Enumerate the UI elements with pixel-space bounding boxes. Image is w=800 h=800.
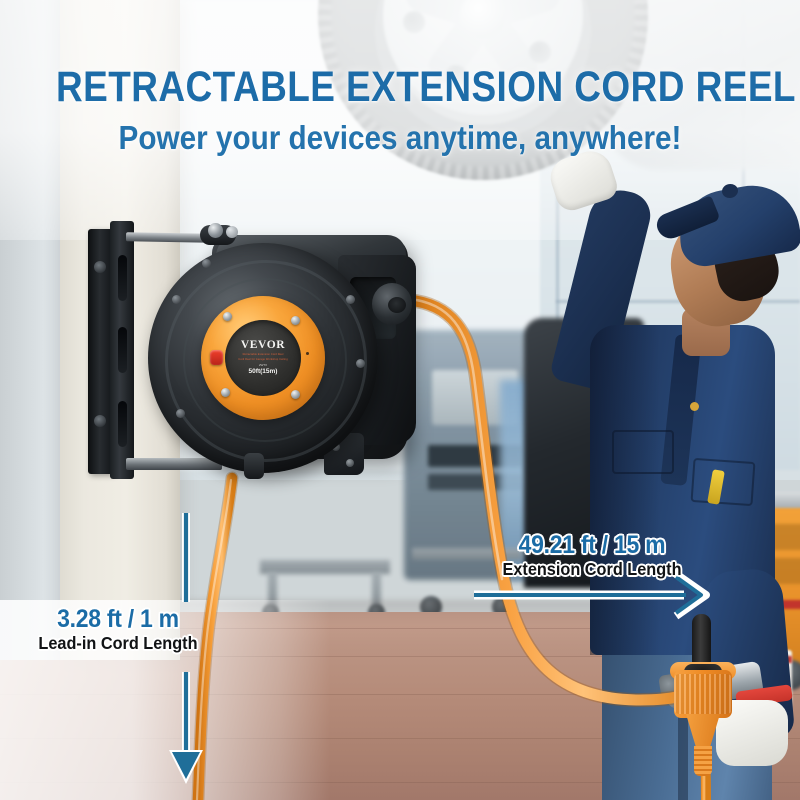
callout-lead-in: 3.28 ft / 1 m Lead-in Cord Length	[8, 606, 228, 654]
callout-extension-value: 49.21 ft / 15 m	[472, 532, 711, 558]
callout-extension: 49.21 ft / 15 m Extension Cord Length	[462, 532, 722, 580]
page-subtitle: Power your devices anytime, anywhere!	[40, 121, 760, 154]
product-marketing-image: VEVOR Retractable Extension Cord Reel Co…	[0, 0, 800, 800]
callout-lead-in-value: 3.28 ft / 1 m	[17, 606, 219, 632]
callout-extension-label: Extension Cord Length	[471, 560, 713, 579]
callout-lead-in-label: Lead-in Cord Length	[16, 634, 221, 653]
headline-block: RETRACTABLE EXTENSION CORD REEL Power yo…	[0, 66, 800, 154]
extension-arrow	[474, 574, 706, 616]
page-title: RETRACTABLE EXTENSION CORD REEL	[56, 66, 744, 109]
